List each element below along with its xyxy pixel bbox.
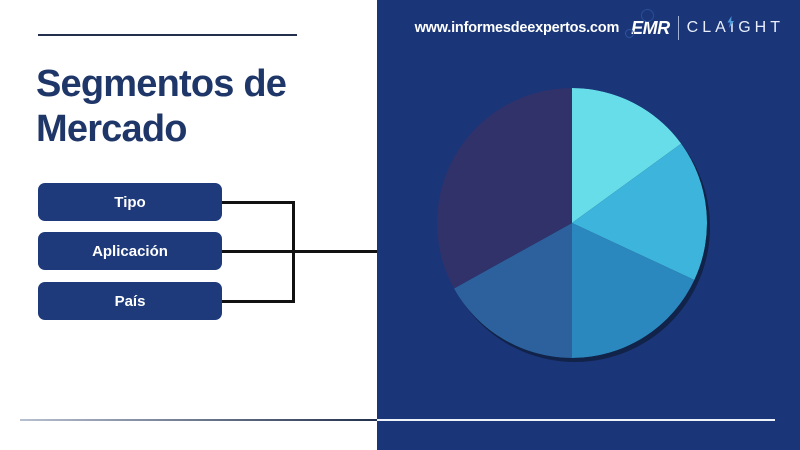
- bottom-divider-rule-left: [20, 419, 377, 421]
- connector-line-vertical: [292, 201, 295, 303]
- segment-button-pais[interactable]: País: [38, 282, 222, 320]
- segment-button-label: Aplicación: [92, 243, 168, 260]
- connector-line-aplicacion: [222, 250, 377, 253]
- logo-claight-text: CLAIGHT: [687, 19, 784, 37]
- site-url-text: www.informesdeexpertos.com: [415, 20, 620, 36]
- page-title: Segmentos de Mercado: [36, 62, 356, 152]
- top-divider-rule: [38, 34, 297, 36]
- connector-line-pais: [222, 300, 295, 303]
- connector-line-tipo: [222, 201, 295, 204]
- segment-button-label: País: [115, 293, 146, 310]
- brand-logo[interactable]: EMR CLAIGHT: [631, 16, 784, 40]
- slide-canvas: www.informesdeexpertos.com EMR CLAIGHT S…: [0, 0, 800, 450]
- segment-button-label: Tipo: [114, 194, 145, 211]
- lightning-bolt-icon: [727, 16, 734, 28]
- segment-button-tipo[interactable]: Tipo: [38, 183, 222, 221]
- pie-chart: [437, 88, 707, 358]
- header-bar: www.informesdeexpertos.com EMR CLAIGHT: [377, 0, 800, 56]
- logo-divider: [678, 16, 679, 40]
- pie-chart-svg: [437, 88, 707, 358]
- bottom-divider-rule-right: [377, 419, 775, 421]
- pie-chart-disc: [437, 88, 707, 358]
- segment-button-aplicacion[interactable]: Aplicación: [38, 232, 222, 270]
